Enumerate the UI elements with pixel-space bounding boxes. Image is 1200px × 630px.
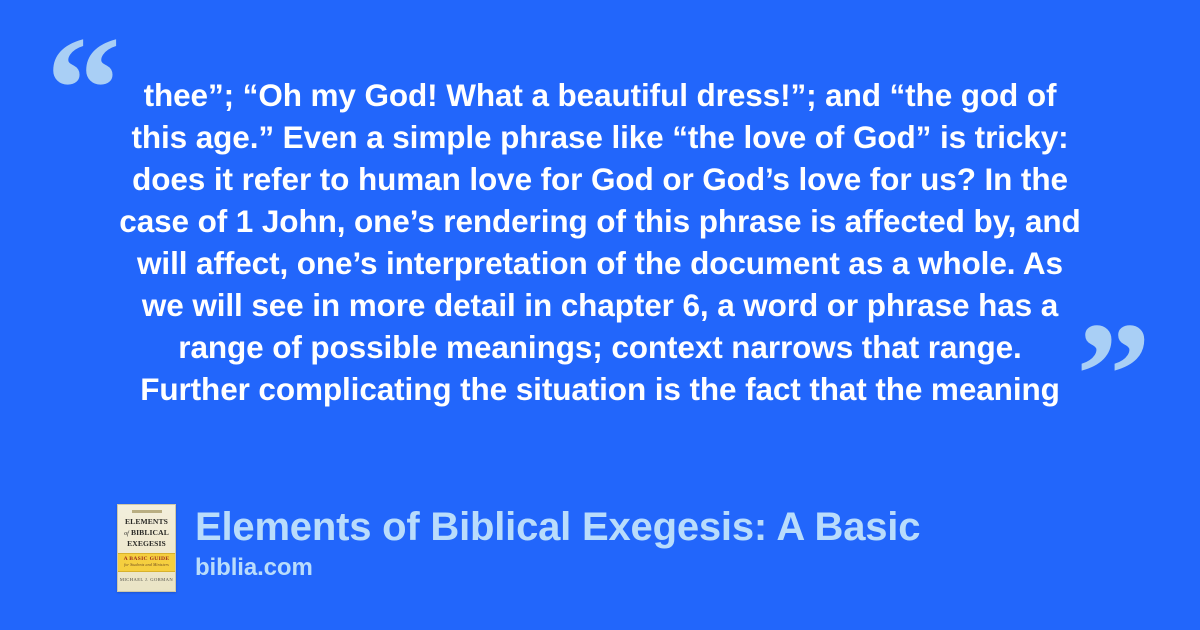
closing-quote-icon: ” [1076, 300, 1151, 450]
quote-line: case of 1 John, one’s rendering of this … [118, 200, 1082, 242]
cover-title-line-3: EXEGESIS [127, 539, 166, 548]
cover-rule [132, 510, 162, 513]
cover-title-of: of [124, 531, 129, 537]
quote-line: does it refer to human love for God or G… [118, 158, 1082, 200]
quote-text: thee”; “Oh my God! What a beautiful dres… [118, 74, 1082, 410]
cover-title-line-1: ELEMENTS [125, 517, 168, 526]
cover-title-line-2: BIBLICAL [131, 528, 169, 537]
book-title: Elements of Biblical Exegesis: A Basic [195, 505, 920, 549]
cover-title: ELEMENTS of BIBLICAL EXEGESIS [118, 517, 175, 550]
quote-line: thee”; “Oh my God! What a beautiful dres… [118, 74, 1082, 116]
footer-text-block: Elements of Biblical Exegesis: A Basic b… [195, 504, 920, 582]
quote-line: range of possible meanings; context narr… [118, 326, 1082, 368]
opening-quote-icon: “ [46, 14, 121, 164]
quote-card: “ thee”; “Oh my God! What a beautiful dr… [0, 0, 1200, 630]
quote-line: we will see in more detail in chapter 6,… [118, 284, 1082, 326]
cover-band-sub: for Students and Ministers [118, 562, 175, 567]
site-name: biblia.com [195, 554, 920, 582]
quote-line: Further complicating the situation is th… [118, 368, 1082, 410]
quote-line: this age.” Even a simple phrase like “th… [118, 116, 1082, 158]
footer-attribution: ELEMENTS of BIBLICAL EXEGESIS A BASIC GU… [117, 504, 920, 592]
cover-author: MICHAEL J. GORMAN [118, 577, 175, 582]
book-cover-thumbnail: ELEMENTS of BIBLICAL EXEGESIS A BASIC GU… [117, 504, 176, 592]
quote-line: will affect, one’s interpretation of the… [118, 242, 1082, 284]
quote-block: “ thee”; “Oh my God! What a beautiful dr… [0, 0, 1200, 460]
cover-subtitle-band: A BASIC GUIDE for Students and Ministers [118, 553, 175, 572]
